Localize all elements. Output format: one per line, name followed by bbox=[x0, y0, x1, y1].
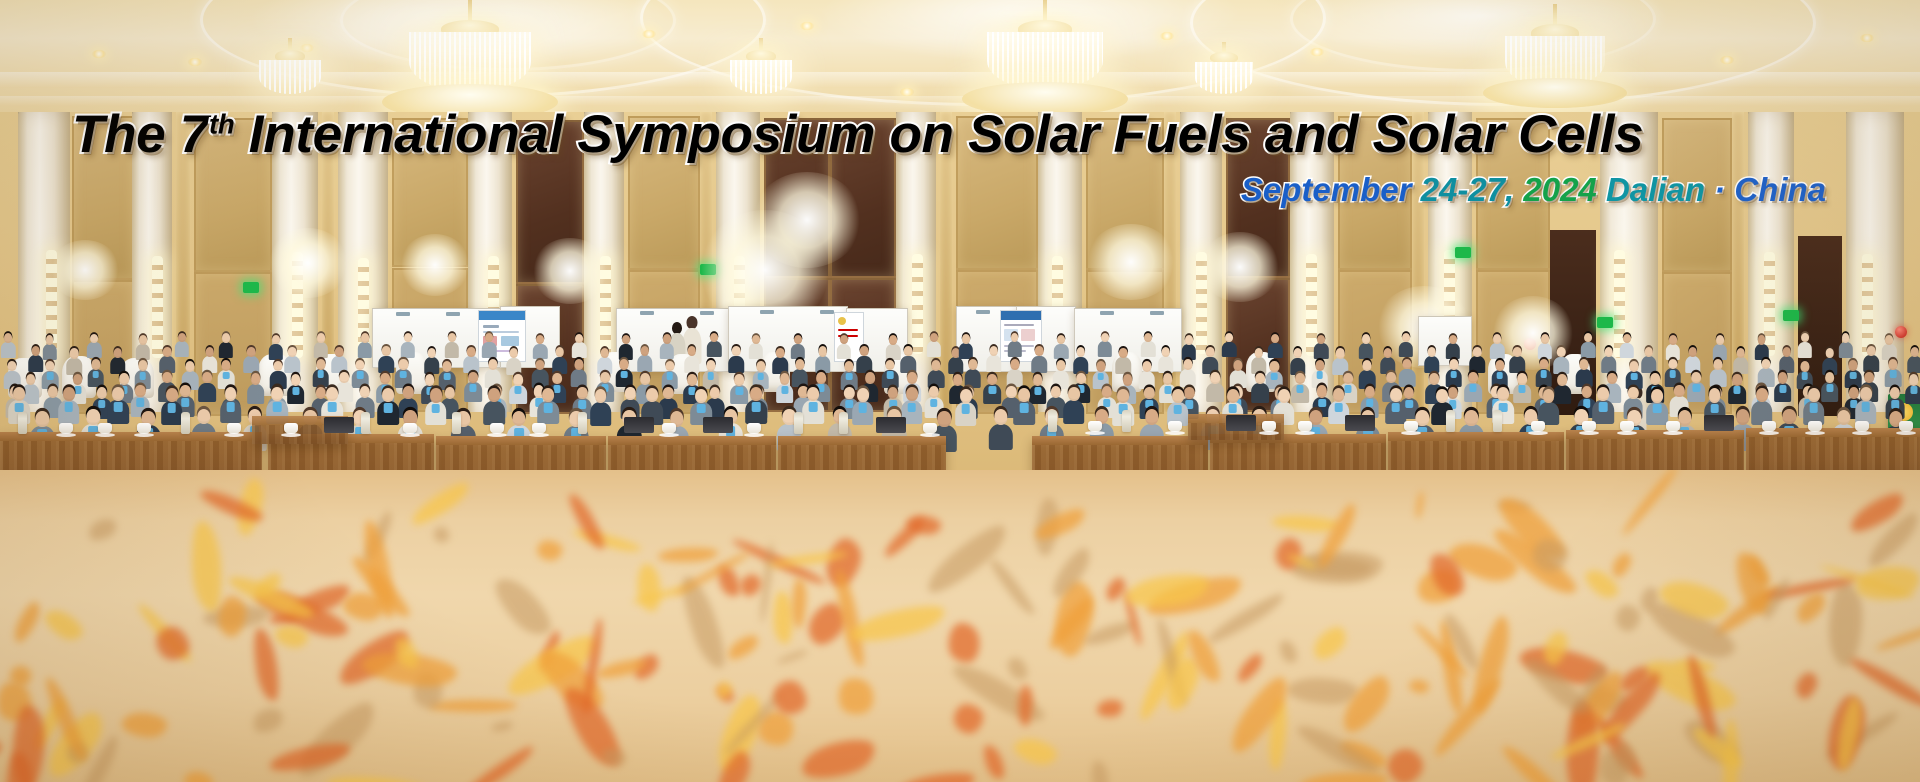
attendee-head bbox=[355, 360, 364, 371]
downlight bbox=[188, 58, 202, 66]
attendee-head bbox=[186, 361, 195, 372]
attendee-head bbox=[1077, 347, 1086, 357]
attendee-head bbox=[1736, 348, 1745, 358]
attendee bbox=[1620, 334, 1634, 358]
carpet-motif bbox=[250, 704, 287, 737]
attendee-lanyard bbox=[168, 403, 177, 413]
attendee-torso bbox=[1222, 342, 1236, 358]
carpet-motif bbox=[40, 604, 87, 645]
attendee-lanyard bbox=[273, 402, 282, 412]
attendee-lanyard bbox=[1599, 402, 1608, 412]
carpet-motif bbox=[407, 478, 473, 531]
attendee-head bbox=[688, 346, 697, 356]
attendee-head bbox=[710, 333, 718, 342]
attendee bbox=[1116, 348, 1132, 374]
water-bottle bbox=[1493, 410, 1502, 432]
attendee-head bbox=[1428, 347, 1437, 357]
carpet-motif bbox=[798, 734, 879, 782]
attendee-lanyard bbox=[226, 402, 235, 412]
exit-sign-icon bbox=[1783, 310, 1799, 321]
attendee-head bbox=[886, 360, 895, 371]
attendee-torso bbox=[901, 356, 917, 373]
attendee-head bbox=[1889, 359, 1898, 370]
subtitle-part-separator: · bbox=[1714, 171, 1734, 208]
teacup bbox=[1168, 421, 1182, 432]
attendee-lanyard bbox=[328, 402, 337, 412]
attendee-head bbox=[1118, 389, 1130, 403]
attendee bbox=[58, 387, 80, 424]
teacup bbox=[532, 423, 546, 434]
attendee-head bbox=[427, 348, 436, 358]
attendee bbox=[927, 333, 941, 357]
attendee-head bbox=[512, 411, 525, 427]
attendee bbox=[1031, 346, 1047, 372]
attendee-head bbox=[1782, 347, 1791, 357]
attendee-torso bbox=[1445, 343, 1459, 359]
carpet-motif bbox=[536, 540, 563, 562]
carpet-motif bbox=[1875, 623, 1920, 653]
attendee-torso bbox=[989, 424, 1013, 451]
water-bottle bbox=[1446, 410, 1455, 432]
board-clip-icon bbox=[640, 311, 654, 315]
attendee-torso bbox=[1838, 342, 1852, 358]
attendee bbox=[1641, 347, 1657, 373]
attendee-head bbox=[382, 388, 394, 402]
attendee-head bbox=[139, 335, 147, 344]
attendee-torso bbox=[815, 356, 831, 373]
attendee bbox=[1158, 347, 1174, 373]
attendee bbox=[1490, 334, 1504, 358]
attendee-head bbox=[70, 348, 79, 358]
attendee-torso bbox=[1063, 400, 1085, 424]
attendee-head bbox=[1145, 409, 1158, 425]
attendee bbox=[425, 388, 447, 425]
attendee-head bbox=[989, 346, 998, 356]
downlight bbox=[1310, 48, 1324, 56]
attendee bbox=[1838, 333, 1852, 357]
subtitle-part-country: China bbox=[1734, 171, 1826, 208]
attendee-head bbox=[620, 359, 629, 370]
teacup bbox=[662, 423, 676, 434]
attendee-head bbox=[601, 348, 610, 358]
attendee bbox=[1332, 348, 1348, 374]
attendee-head bbox=[1623, 334, 1631, 343]
carpet-motif bbox=[1827, 582, 1864, 667]
attendee bbox=[107, 387, 129, 424]
carpet-motif bbox=[1102, 575, 1128, 604]
attendee-head bbox=[247, 347, 256, 357]
attendee bbox=[1863, 346, 1879, 372]
attendee-head bbox=[641, 346, 650, 356]
attendee-head bbox=[1801, 333, 1809, 342]
attendee-torso bbox=[1399, 342, 1413, 358]
attendee-head bbox=[1837, 410, 1850, 426]
attendee-head bbox=[335, 347, 344, 357]
attendee-lanyard bbox=[858, 403, 867, 413]
laptop bbox=[1226, 415, 1256, 431]
symposium-subtitle: September 24-27, 2024 Dalian · China bbox=[72, 171, 1872, 209]
attendee bbox=[959, 334, 973, 358]
attendee-head bbox=[536, 360, 545, 371]
downlight bbox=[642, 30, 656, 38]
attendee-head bbox=[87, 409, 100, 425]
carpet-motif bbox=[833, 674, 878, 720]
carpet-motif bbox=[1382, 742, 1429, 782]
attendee-head bbox=[36, 411, 49, 427]
attendee-torso bbox=[1779, 356, 1795, 373]
teacup bbox=[1298, 421, 1312, 432]
attendee bbox=[1251, 348, 1267, 374]
attendee bbox=[1073, 347, 1089, 373]
attendee bbox=[445, 333, 459, 357]
attendee bbox=[1013, 388, 1035, 425]
attendee-head bbox=[1605, 347, 1614, 357]
attendee-torso bbox=[533, 344, 547, 360]
attendee-head bbox=[1580, 359, 1589, 370]
attendee-head bbox=[1630, 361, 1639, 372]
attendee bbox=[110, 348, 126, 374]
attendee bbox=[42, 335, 56, 359]
attendee bbox=[728, 346, 744, 372]
attendee-torso bbox=[1359, 343, 1373, 359]
attendee bbox=[1268, 334, 1282, 358]
attendee-torso bbox=[218, 342, 232, 358]
attendee bbox=[1424, 347, 1440, 373]
attendee-torso bbox=[401, 342, 415, 358]
attendee-head bbox=[665, 361, 674, 372]
attendee-head bbox=[1403, 359, 1412, 370]
carpet-motif bbox=[737, 570, 765, 599]
attendee bbox=[745, 387, 767, 424]
attendee-torso bbox=[1620, 343, 1634, 359]
carpet-motif bbox=[429, 699, 517, 711]
water-bottle bbox=[18, 412, 27, 434]
attendee bbox=[637, 346, 653, 372]
attendee-torso bbox=[1158, 356, 1174, 373]
chandelier-small-midleft bbox=[716, 38, 806, 108]
attendee-head bbox=[288, 347, 297, 357]
carpet-motif bbox=[457, 742, 536, 782]
attendee-head bbox=[1800, 361, 1809, 372]
attendee-torso bbox=[1054, 344, 1068, 360]
attendee bbox=[1290, 348, 1306, 374]
board-clip-icon bbox=[446, 312, 460, 316]
attendee bbox=[1509, 347, 1525, 373]
attendee-head bbox=[994, 409, 1007, 425]
carpet-motif bbox=[1792, 669, 1821, 702]
attendee-lanyard bbox=[752, 402, 761, 412]
carpet-motif bbox=[980, 742, 1008, 781]
title-part-symposium: Symposium bbox=[577, 105, 889, 164]
teacup bbox=[1531, 421, 1545, 432]
board-clip-icon bbox=[820, 310, 834, 314]
attendee-head bbox=[46, 361, 55, 372]
attendee-torso bbox=[791, 344, 805, 360]
attendee-head bbox=[1808, 388, 1820, 402]
attendee bbox=[986, 346, 1002, 372]
attendee-lanyard bbox=[962, 404, 971, 414]
attendee bbox=[1470, 347, 1486, 373]
attendee-head bbox=[1911, 347, 1920, 357]
teacup bbox=[1582, 421, 1596, 432]
carpet-motif bbox=[565, 490, 609, 552]
attendee bbox=[424, 348, 440, 374]
attendee-head bbox=[1185, 335, 1193, 344]
laptop bbox=[703, 417, 733, 433]
attendee bbox=[268, 335, 282, 359]
attendee-head bbox=[1688, 347, 1697, 357]
attendee-torso bbox=[1538, 343, 1552, 359]
attendee-head bbox=[857, 388, 869, 402]
attendee-torso bbox=[660, 343, 674, 359]
attendee-lanyard bbox=[809, 402, 818, 412]
attendee-head bbox=[166, 388, 178, 402]
attendee bbox=[175, 333, 189, 357]
attendee-lanyard bbox=[64, 402, 73, 412]
attendee-head bbox=[930, 333, 938, 342]
attendee-head bbox=[1495, 360, 1504, 371]
attendee-head bbox=[1035, 346, 1044, 356]
attendee-torso bbox=[1641, 356, 1657, 373]
carpet-motif bbox=[10, 598, 44, 645]
attendee-head bbox=[1758, 335, 1766, 344]
attendee bbox=[852, 388, 874, 425]
attendee-head bbox=[794, 335, 802, 344]
attendee bbox=[358, 333, 372, 357]
chandelier-small-right bbox=[1182, 42, 1266, 108]
water-bottle bbox=[1048, 410, 1057, 432]
carpet-motif bbox=[1287, 677, 1359, 706]
attendee-torso bbox=[463, 356, 479, 373]
attendee-torso bbox=[1863, 355, 1879, 372]
teacup bbox=[227, 423, 241, 434]
water-bottle bbox=[794, 412, 803, 434]
attendee-torso bbox=[1268, 343, 1282, 359]
attendee-head bbox=[646, 388, 658, 402]
teacup bbox=[137, 423, 151, 434]
attendee bbox=[1141, 333, 1155, 357]
laptop bbox=[1704, 415, 1734, 431]
attendee bbox=[332, 347, 348, 373]
attendee-torso bbox=[135, 344, 149, 360]
board-clip-icon bbox=[396, 312, 410, 316]
attendee-head bbox=[1473, 347, 1482, 357]
attendee-head bbox=[1142, 361, 1151, 372]
attendee-head bbox=[361, 333, 369, 342]
attendee-head bbox=[1172, 389, 1184, 403]
attendee-torso bbox=[1712, 344, 1726, 360]
teacup bbox=[98, 423, 112, 434]
teacup bbox=[1762, 421, 1776, 432]
attendee-head bbox=[1736, 409, 1749, 425]
attendee bbox=[159, 347, 175, 373]
attendee-head bbox=[1826, 348, 1835, 358]
attendee-head bbox=[509, 348, 518, 358]
attendee-head bbox=[1254, 348, 1263, 358]
attendee-head bbox=[1669, 335, 1677, 344]
attendee bbox=[506, 348, 522, 374]
attendee bbox=[1798, 333, 1812, 357]
attendee bbox=[1222, 333, 1236, 357]
attendee bbox=[1779, 347, 1795, 373]
attendee-head bbox=[931, 360, 940, 371]
downlight bbox=[1160, 32, 1174, 40]
water-bottle bbox=[578, 412, 587, 434]
attendee-head bbox=[1333, 388, 1345, 402]
attendee bbox=[1007, 333, 1021, 357]
attendee bbox=[378, 346, 394, 372]
teacup bbox=[747, 423, 761, 434]
title-part-solar-fuels-and: Solar Fuels and bbox=[968, 105, 1373, 164]
attendee-head bbox=[1597, 387, 1609, 401]
attendee-head bbox=[844, 361, 853, 372]
attendee-head bbox=[272, 335, 280, 344]
attendee-head bbox=[1497, 387, 1509, 401]
attendee-head bbox=[756, 361, 765, 372]
title-part-cells: Cells bbox=[1518, 105, 1643, 164]
attendee-head bbox=[1860, 387, 1872, 401]
water-bottle bbox=[839, 412, 848, 434]
attendee-head bbox=[536, 335, 544, 344]
attendee-head bbox=[488, 388, 500, 402]
teacup bbox=[923, 423, 937, 434]
attendee-torso bbox=[87, 342, 101, 358]
attendee-head bbox=[960, 389, 972, 403]
attendee-lanyard bbox=[431, 404, 440, 414]
attendee bbox=[901, 346, 917, 372]
attendee-torso bbox=[1007, 341, 1021, 357]
attendee bbox=[707, 333, 721, 357]
attendee bbox=[1733, 348, 1749, 374]
attendee-head bbox=[706, 360, 715, 371]
attendee-head bbox=[795, 359, 804, 370]
attendee-head bbox=[1183, 359, 1192, 370]
attendee-head bbox=[1678, 410, 1691, 426]
attendee bbox=[219, 333, 233, 357]
attendee-torso bbox=[1490, 343, 1504, 359]
attendee-head bbox=[1716, 335, 1724, 344]
attendee-head bbox=[1782, 409, 1795, 425]
attendee-torso bbox=[1798, 342, 1812, 358]
attendee bbox=[660, 334, 674, 358]
attendee bbox=[1098, 333, 1112, 357]
attendee-torso bbox=[202, 356, 218, 373]
attendee-head bbox=[1056, 360, 1065, 371]
attendee bbox=[597, 348, 613, 374]
attendee-head bbox=[1644, 347, 1653, 357]
attendee-head bbox=[1842, 333, 1850, 342]
carpet-motif bbox=[491, 720, 515, 734]
carpet-motif bbox=[1408, 679, 1430, 695]
banner-text-block: The 7th International Symposium on Solar… bbox=[72, 108, 1872, 209]
attendee-torso bbox=[1314, 343, 1328, 359]
teacup bbox=[1404, 421, 1418, 432]
attendee-torso bbox=[244, 356, 260, 373]
attendee-torso bbox=[1182, 344, 1196, 360]
banner-image: The 7th International Symposium on Solar… bbox=[0, 0, 1920, 782]
attendee bbox=[1855, 387, 1877, 424]
title-part-on: on bbox=[889, 105, 968, 164]
teacup bbox=[1088, 421, 1102, 432]
attendee-head bbox=[1885, 335, 1893, 344]
carpet-motif bbox=[487, 570, 558, 643]
attendee-head bbox=[382, 346, 391, 356]
attendee-torso bbox=[268, 344, 282, 360]
attendee bbox=[401, 333, 415, 357]
attendee-torso bbox=[1754, 344, 1768, 360]
attendee bbox=[572, 334, 586, 358]
attendee bbox=[1646, 389, 1668, 426]
attendee bbox=[552, 347, 568, 373]
attendee-lanyard bbox=[1710, 404, 1719, 414]
attendee-head bbox=[555, 347, 564, 357]
title-part-the: The bbox=[72, 105, 180, 164]
carpet-motif bbox=[0, 737, 3, 756]
attendee bbox=[244, 347, 260, 373]
attendee bbox=[815, 346, 831, 372]
attendee bbox=[537, 388, 559, 425]
attendee-head bbox=[90, 334, 98, 343]
attendee-head bbox=[488, 359, 497, 370]
attendee-head bbox=[695, 389, 707, 403]
attendee-head bbox=[178, 333, 186, 342]
attendee bbox=[1592, 387, 1614, 424]
attendee bbox=[1601, 347, 1617, 373]
attendee bbox=[533, 335, 547, 359]
attendee-torso bbox=[728, 356, 744, 373]
laptop bbox=[1345, 415, 1375, 431]
attendee-head bbox=[163, 347, 172, 357]
attendee-torso bbox=[1601, 356, 1617, 373]
attendee-head bbox=[1849, 360, 1858, 371]
attendee-head bbox=[1557, 347, 1566, 357]
carpet-motif bbox=[1234, 651, 1267, 686]
attendee-torso bbox=[927, 341, 941, 357]
attendee bbox=[1063, 387, 1085, 424]
attendee-head bbox=[962, 334, 970, 343]
attendee-head bbox=[4, 333, 12, 342]
attendee-torso bbox=[684, 356, 700, 373]
attendee bbox=[1754, 335, 1768, 359]
attendee-head bbox=[1541, 334, 1549, 343]
attendee-lanyard bbox=[1861, 402, 1870, 412]
attendee bbox=[684, 346, 700, 372]
attendee-head bbox=[1709, 388, 1721, 402]
carpet-motif bbox=[1276, 638, 1300, 666]
attendee-head bbox=[574, 359, 583, 370]
attendee-head bbox=[1362, 334, 1370, 343]
chandelier-main-left bbox=[380, 0, 560, 120]
attendee bbox=[1182, 335, 1196, 359]
attendee-head bbox=[595, 389, 607, 403]
exit-sign-icon bbox=[1455, 247, 1471, 258]
attendee bbox=[619, 335, 633, 359]
attendee-torso bbox=[959, 343, 973, 359]
attendee-torso bbox=[572, 342, 586, 358]
attendee-lanyard bbox=[1653, 404, 1662, 414]
downlight bbox=[1860, 34, 1874, 42]
attendee-torso bbox=[1666, 344, 1680, 360]
attendee-head bbox=[1449, 359, 1458, 370]
carpet-motif bbox=[1272, 513, 1340, 532]
carpet-motif bbox=[791, 577, 807, 628]
attendee-head bbox=[1018, 388, 1030, 402]
attendee-head bbox=[46, 335, 54, 344]
attendee-head bbox=[1270, 361, 1279, 372]
attendee-head bbox=[1096, 361, 1105, 372]
carpet-motif bbox=[772, 591, 793, 645]
carpet-motif bbox=[1004, 654, 1031, 683]
